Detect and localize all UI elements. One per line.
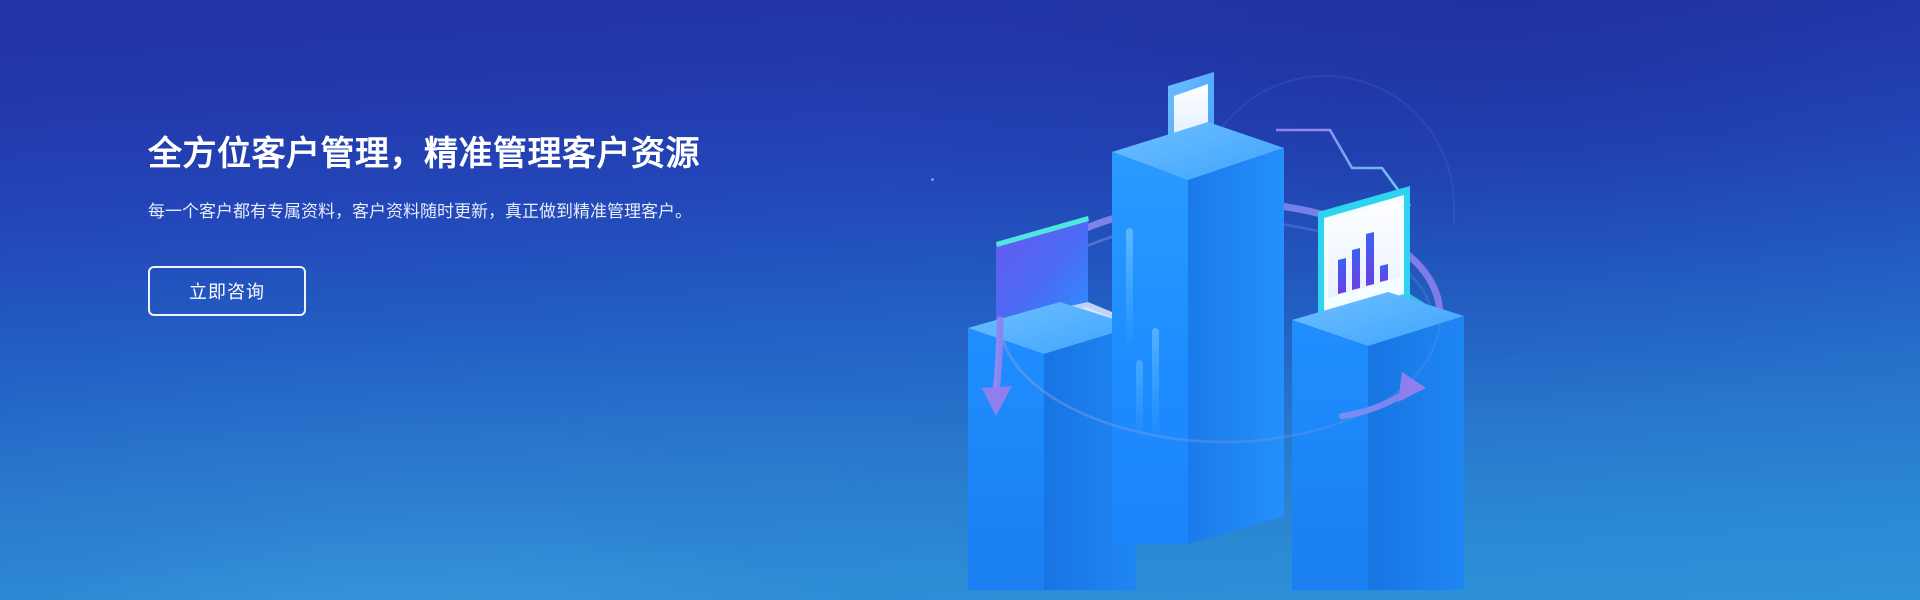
page-title: 全方位客户管理，精准管理客户资源 xyxy=(148,132,788,176)
right-pillar xyxy=(1292,186,1464,590)
hero-subtitle: 每一个客户都有专属资料，客户资料随时更新，真正做到精准管理客户。 xyxy=(148,198,748,226)
hero-illustration xyxy=(940,20,1500,590)
center-pillar xyxy=(1112,72,1284,544)
left-pillar xyxy=(940,216,1136,590)
hero-banner: 全方位客户管理，精准管理客户资源 每一个客户都有专属资料，客户资料随时更新，真正… xyxy=(0,0,1920,600)
consult-now-button[interactable]: 立即咨询 xyxy=(148,266,306,316)
decorative-speck xyxy=(931,178,934,181)
hero-copy-block: 全方位客户管理，精准管理客户资源 每一个客户都有专属资料，客户资料随时更新，真正… xyxy=(148,132,788,316)
